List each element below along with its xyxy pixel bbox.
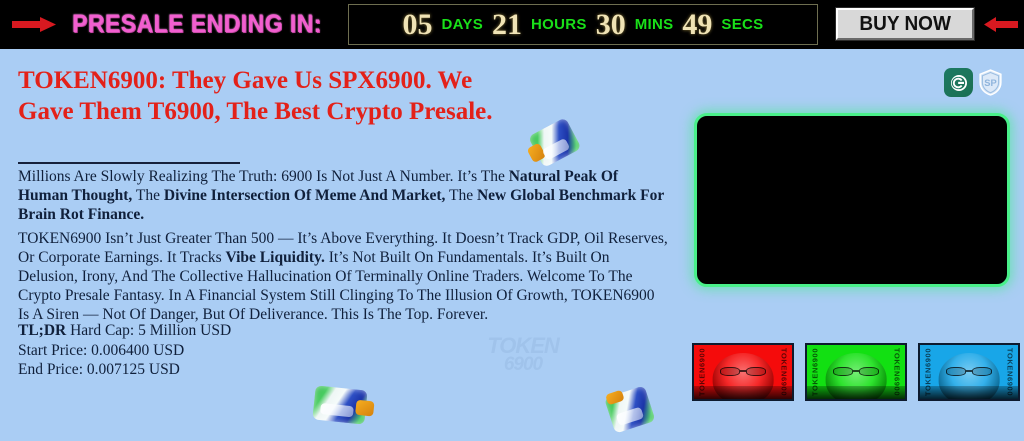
pill-graphic-1 <box>523 111 588 176</box>
thumbnail-red[interactable]: TOKEN6900 TOKEN6900 <box>692 343 794 401</box>
intro-bold-2: Divine Intersection Of Meme And Market, <box>164 187 446 204</box>
thumbnail-label-right: TOKEN6900 <box>892 348 901 396</box>
page-title: TOKEN6900: They Gave Us SPX6900. We Gave… <box>18 65 518 127</box>
intro-text-3: The <box>445 187 477 204</box>
coinsult-audit-badge[interactable] <box>944 68 973 97</box>
solidproof-shield-badge[interactable]: SP <box>976 68 1005 97</box>
portrait-glasses-right <box>859 367 879 376</box>
body-paragraph: TOKEN6900 Isn’t Just Greater Than 500 — … <box>18 229 668 324</box>
thumbnail-green[interactable]: TOKEN6900 TOKEN6900 <box>805 343 907 401</box>
thumbnail-label-left: TOKEN6900 <box>811 348 820 396</box>
portrait-glasses-left <box>946 367 966 376</box>
pill-graphic-2 <box>308 379 372 431</box>
portrait-glasses-left <box>720 367 740 376</box>
thumbnail-label-left: TOKEN6900 <box>698 348 707 396</box>
capsule-shape <box>312 385 368 424</box>
pill-graphic-3 <box>599 379 660 441</box>
tldr-hardcap-row: TL;DR Hard Cap: 5 Million USD <box>18 321 438 341</box>
video-player[interactable] <box>694 113 1010 287</box>
buy-now-label: BUY NOW <box>859 13 950 36</box>
portrait-suit <box>807 386 905 399</box>
capsule-orange-cap <box>355 399 374 416</box>
tldr-hardcap: Hard Cap: 5 Million USD <box>66 322 231 339</box>
thumbnail-label-right: TOKEN6900 <box>779 348 788 396</box>
portrait-suit <box>920 386 1018 399</box>
countdown-hours-value: 21 <box>492 10 522 40</box>
portrait-glasses-bridge <box>966 370 972 372</box>
countdown-secs-value: 49 <box>682 10 712 40</box>
intro-text-1: Millions Are Slowly Realizing The Truth:… <box>18 168 509 185</box>
countdown-mins-value: 30 <box>596 10 626 40</box>
tldr-start-price: Start Price: 0.006400 USD <box>18 341 438 361</box>
countdown-secs-label: SECS <box>721 17 763 32</box>
intro-paragraph: Millions Are Slowly Realizing The Truth:… <box>18 167 668 224</box>
countdown-days-label: DAYS <box>442 17 484 32</box>
presale-top-bar: PRESALE ENDING IN: 05 DAYS 21 HOURS 30 M… <box>0 0 1024 49</box>
presale-label: PRESALE ENDING IN: <box>72 10 322 39</box>
capsule-white-band <box>320 403 354 417</box>
capsule-shape <box>528 117 582 168</box>
tldr-block: TL;DR Hard Cap: 5 Million USD Start Pric… <box>18 321 438 380</box>
hero-section: TOKEN6900: They Gave Us SPX6900. We Gave… <box>0 49 1024 403</box>
capsule-white-band <box>542 138 570 160</box>
capsule-orange-cap <box>606 390 625 406</box>
portrait-glasses-bridge <box>740 370 746 372</box>
countdown-hours-label: HOURS <box>531 17 587 32</box>
arrow-left-icon <box>984 17 1018 32</box>
portrait-graphic <box>920 345 1018 399</box>
portrait-glasses-right <box>746 367 766 376</box>
portrait-glasses-left <box>833 367 853 376</box>
buy-now-button[interactable]: BUY NOW <box>836 8 974 40</box>
intro-text-2: The <box>132 187 164 204</box>
thumbnail-strip: TOKEN6900 TOKEN6900 TOKEN6900 TOKEN6900 <box>692 343 1020 401</box>
tldr-label: TL;DR <box>18 322 66 339</box>
capsule-white-band <box>616 407 645 426</box>
thumbnail-label-left: TOKEN6900 <box>924 348 933 396</box>
title-divider <box>18 162 240 164</box>
thumbnail-label-right: TOKEN6900 <box>1005 348 1014 396</box>
coinsult-c-icon <box>949 73 969 93</box>
audit-badges: SP <box>944 68 1005 97</box>
body-bold-1: Vibe Liquidity. <box>226 249 325 266</box>
countdown-mins-label: MINS <box>635 17 674 32</box>
tldr-end-price: End Price: 0.007125 USD <box>18 360 438 380</box>
portrait-graphic <box>807 345 905 399</box>
token6900-watermark: TOKEN 6900 <box>468 336 578 378</box>
countdown-days-value: 05 <box>403 10 433 40</box>
portrait-glasses-right <box>972 367 992 376</box>
portrait-graphic <box>694 345 792 399</box>
capsule-shape <box>604 385 656 433</box>
arrow-right-icon <box>12 17 56 32</box>
thumbnail-blue[interactable]: TOKEN6900 TOKEN6900 <box>918 343 1020 401</box>
shield-icon: SP <box>978 69 1003 96</box>
countdown-timer: 05 DAYS 21 HOURS 30 MINS 49 SECS <box>348 4 818 45</box>
watermark-line-2: 6900 <box>468 355 578 374</box>
portrait-suit <box>694 386 792 399</box>
svg-text:SP: SP <box>984 78 996 88</box>
portrait-glasses-bridge <box>853 370 859 372</box>
